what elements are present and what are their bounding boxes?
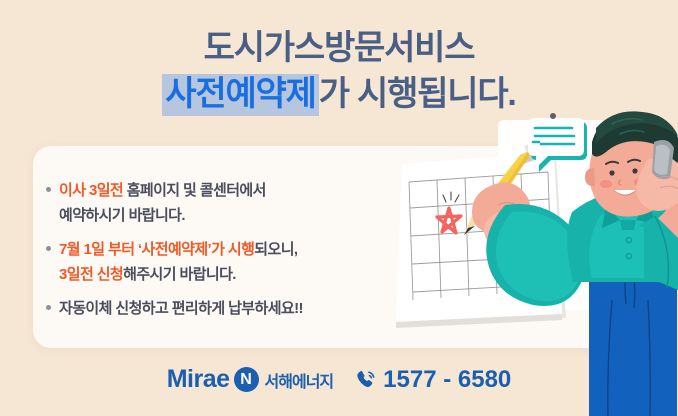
list-item-text: 이사 3일전 홈페이지 및 콜센터에서예약하시기 바랍니다. [59, 178, 266, 228]
emphasis-text: 이사 3일전 [59, 182, 127, 199]
body-text: 예약하시기 바랍니다. [59, 207, 185, 224]
emphasis-text: 7월 1일 부터 ‘사전예약제’가 시행 [59, 241, 254, 258]
brand-mark-n-icon: N [234, 367, 259, 392]
phone-handset-icon [355, 369, 377, 391]
bullet-dot-icon [46, 187, 51, 192]
headline-line-2-rest: 가 시행됩니다. [319, 75, 516, 113]
headline-line-2: 사전예약제가 시행됩니다. [0, 72, 678, 116]
headline-highlight: 사전예약제 [162, 74, 318, 116]
list-item-text: 자동이체 신청하고 편리하게 납부하세요!! [59, 296, 303, 321]
notice-list: 이사 3일전 홈페이지 및 콜센터에서예약하시기 바랍니다. 7월 1일 부터 … [46, 178, 396, 321]
bullet-dot-icon [46, 246, 51, 251]
body-text: 해주시기 바랍니다. [123, 266, 236, 283]
decor-dot [550, 113, 556, 119]
brand-name-latin: Mirae [167, 365, 230, 394]
contact-phone[interactable]: 1577 - 6580 [355, 366, 511, 394]
list-item: 7월 1일 부터 ‘사전예약제’가 시행되오니,3일전 신청해주시기 바랍니다. [46, 237, 396, 287]
brand-name-korean: 서해에너지 [265, 368, 334, 392]
list-item-text: 7월 1일 부터 ‘사전예약제’가 시행되오니,3일전 신청해주시기 바랍니다. [59, 237, 297, 287]
promo-banner: 도시가스방문서비스 사전예약제가 시행됩니다. 이사 3일전 홈페이지 및 콜센… [0, 0, 678, 416]
body-text: 되오니, [254, 241, 297, 258]
brand-logo: Mirae N 서해에너지 [167, 365, 333, 394]
headline: 도시가스방문서비스 사전예약제가 시행됩니다. [0, 26, 678, 116]
footer: Mirae N 서해에너지 1577 - 6580 [0, 365, 678, 394]
phone-number: 1577 - 6580 [383, 366, 511, 394]
headline-line-1: 도시가스방문서비스 [0, 26, 678, 70]
emphasis-text: 3일전 신청 [59, 266, 123, 283]
body-text: 자동이체 신청하고 편리하게 납부하세요!! [59, 300, 303, 317]
list-item: 이사 3일전 홈페이지 및 콜센터에서예약하시기 바랍니다. [46, 178, 396, 228]
list-item: 자동이체 신청하고 편리하게 납부하세요!! [46, 296, 396, 321]
body-text: 홈페이지 및 콜센터에서 [127, 182, 266, 199]
bullet-dot-icon [46, 305, 51, 310]
